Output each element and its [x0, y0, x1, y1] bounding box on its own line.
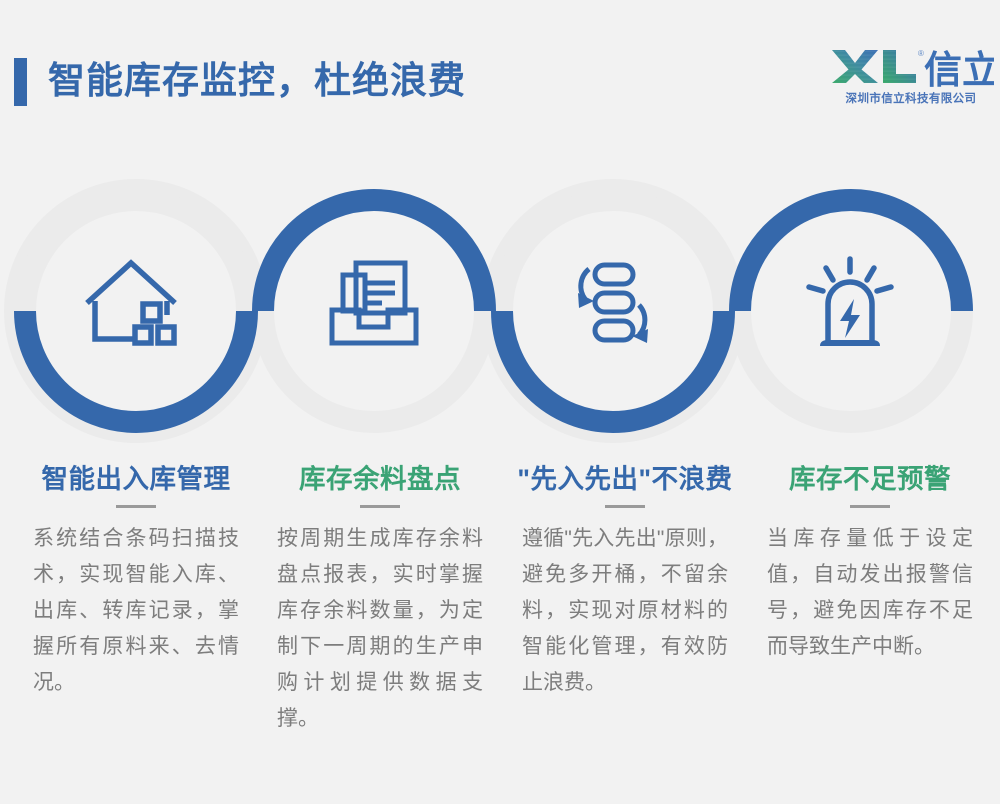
card-heading-1: 智能出入库管理 [11, 462, 261, 496]
svg-text:信立: 信立 [924, 50, 994, 88]
header: 智能库存监控，杜绝浪费 [0, 0, 1000, 140]
card-divider-3 [605, 505, 645, 508]
feature-card-4: 库存不足预警 当库存量低于设定值，自动发出报警信号，避免因库存不足而导致生产中断… [745, 462, 995, 665]
title-accent-bar [14, 58, 27, 106]
card-heading-2: 库存余料盘点 [255, 462, 505, 496]
wave-icon-layer [0, 148, 1000, 458]
icon-slot-2 [249, 148, 499, 458]
card-heading-4: 库存不足预警 [745, 462, 995, 496]
alarm-siren-icon [800, 253, 900, 353]
lightning-bolt-icon [840, 299, 860, 338]
card-divider-4 [850, 505, 890, 508]
card-body-4: 当库存量低于设定值，自动发出报警信号，避免因库存不足而导致生产中断。 [745, 521, 995, 665]
feature-card-3: "先入先出"不浪费 遵循"先入先出"原则，避免多开桶，不留余料，实现对原材料的智… [500, 462, 750, 701]
feature-card-2: 库存余料盘点 按周期生成库存余料盘点报表，实时掌握库存余料数量，为定制下一周期的… [255, 462, 505, 737]
siren-ray-upper-right [867, 268, 874, 280]
icon-slot-4 [725, 148, 975, 458]
page-title: 智能库存监控，杜绝浪费 [48, 57, 466, 105]
logo-subtitle: 深圳市信立科技有限公司 [828, 90, 994, 106]
siren-ray-upper-left [826, 268, 833, 280]
fifo-arrow-left [578, 293, 594, 308]
icon-slot-3 [487, 148, 737, 458]
document-tray-icon [326, 257, 422, 349]
siren-ray-right [877, 287, 891, 291]
card-heading-3: "先入先出"不浪费 [500, 462, 750, 496]
warehouse-icon [84, 257, 188, 349]
card-body-1: 系统结合条码扫描技术，实现智能入库、出库、转库记录，掌握所有原料来、去情况。 [11, 521, 261, 701]
fifo-rotation-icon [562, 257, 662, 349]
siren-base [820, 340, 880, 346]
poster-root: 智能库存监控，杜绝浪费 [0, 0, 1000, 804]
card-body-2: 按周期生成库存余料盘点报表，实时掌握库存余料数量，为定制下一周期的生产申购计划提… [255, 521, 505, 737]
card-divider-1 [116, 505, 156, 508]
wave-graphic [0, 148, 1000, 458]
company-logo: ® 信立 深圳市信立科技有限公司 [828, 44, 994, 110]
feature-cards: 智能出入库管理 系统结合条码扫描技术，实现智能入库、出库、转库记录，掌握所有原料… [0, 462, 1000, 804]
logo-mark-icon: ® 信立 [828, 44, 994, 88]
feature-card-1: 智能出入库管理 系统结合条码扫描技术，实现智能入库、出库、转库记录，掌握所有原料… [11, 462, 261, 701]
card-body-3: 遵循"先入先出"原则，避免多开桶，不留余料，实现对原材料的智能化管理，有效防止浪… [500, 521, 750, 701]
siren-ray-left [809, 287, 823, 291]
card-divider-2 [360, 505, 400, 508]
icon-slot-1 [11, 148, 261, 458]
